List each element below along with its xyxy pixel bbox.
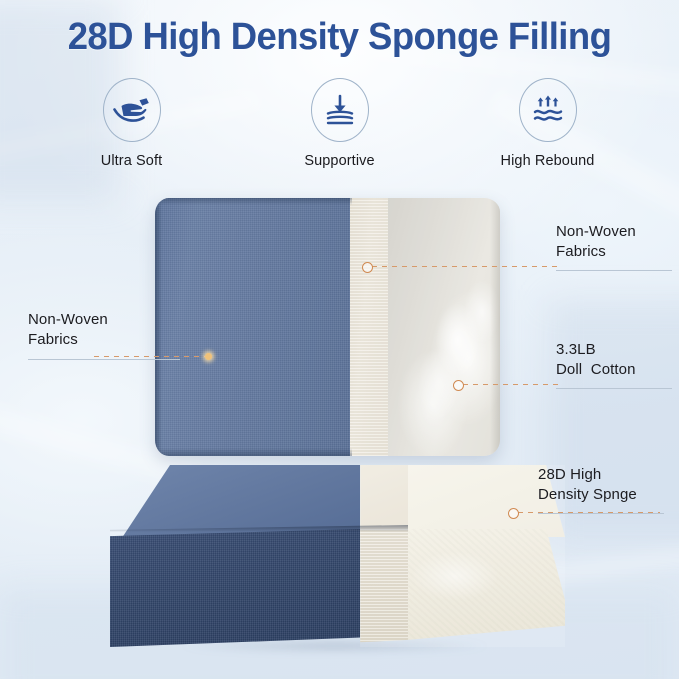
pillow-nonwoven-fabric-layer	[350, 198, 388, 456]
seat-front-nonwoven-layer	[360, 529, 408, 647]
callout-right-top-line1: Non-Woven	[556, 222, 679, 242]
pillow-edge-shade	[490, 198, 500, 456]
feature-item-ultra-soft: Ultra Soft	[72, 78, 192, 169]
callout-underline	[556, 388, 672, 389]
feature-label: High Rebound	[501, 153, 595, 169]
callout-underline	[28, 359, 180, 360]
pillow-doll-cotton-fill	[388, 198, 500, 456]
callout-right-bottom-line2: Density Spnge	[538, 485, 678, 505]
seat-front-foam-core	[408, 529, 565, 647]
pillow-seam	[155, 198, 352, 205]
callout-left-line1: Non-Woven	[28, 310, 208, 330]
callout-right-mid-line1: 3.3LB	[556, 340, 679, 360]
feature-list: Ultra Soft Supportive	[0, 78, 679, 169]
callout-left: Non-Woven Fabrics	[28, 310, 208, 360]
feature-item-high-rebound: High Rebound	[488, 78, 608, 169]
callout-underline	[556, 270, 672, 271]
seat-front-face	[110, 529, 565, 647]
infographic-canvas: 28D High Density Sponge Filling Ultra So…	[0, 0, 679, 679]
callout-right-top-line2: Fabrics	[556, 242, 679, 262]
seat-front-blue-fabric	[110, 529, 360, 647]
seat-top-blue-fabric	[110, 465, 360, 537]
leader-line-right-top	[372, 266, 558, 267]
callout-right-bottom-line1: 28D High	[538, 465, 678, 485]
callout-right-bottom: 28D High Density Spnge	[538, 465, 678, 514]
callout-underline	[538, 513, 664, 514]
marker-ring-right-mid	[453, 380, 464, 391]
pillow-seam	[155, 448, 352, 456]
seat-cushion-cutaway	[110, 465, 565, 647]
callout-right-mid: 3.3LB Doll Cotton	[556, 340, 679, 389]
callout-right-top: Non-Woven Fabrics	[556, 222, 679, 271]
feature-label: Ultra Soft	[101, 153, 162, 169]
leader-line-right-mid	[463, 384, 559, 385]
upward-arrows-waves-icon	[519, 78, 577, 142]
feature-item-supportive: Supportive	[280, 78, 400, 169]
callout-right-mid-line2: Doll Cotton	[556, 360, 679, 380]
downward-arrow-layers-icon	[311, 78, 369, 142]
hand-holding-cushion-icon	[103, 78, 161, 142]
marker-ring-right-top	[362, 262, 373, 273]
feature-label: Supportive	[304, 153, 374, 169]
page-title: 28D High Density Sponge Filling	[14, 16, 666, 59]
callout-left-line2: Fabrics	[28, 330, 208, 350]
marker-ring-right-bottom	[508, 508, 519, 519]
